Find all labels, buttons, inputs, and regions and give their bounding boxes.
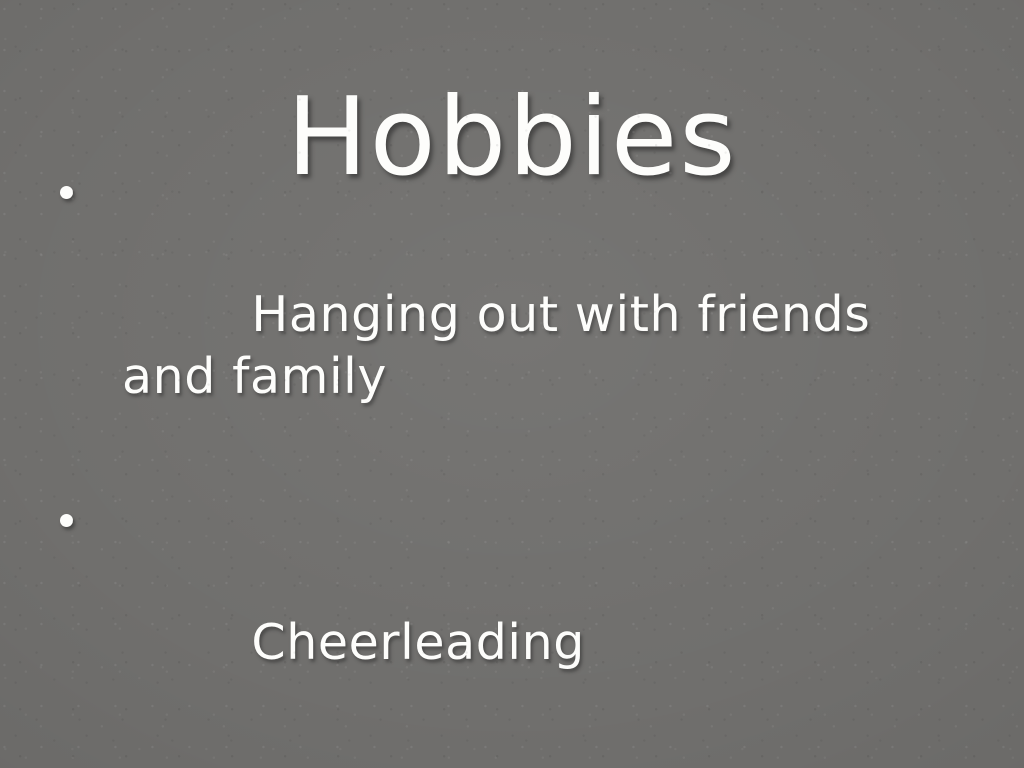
list-item-label: Hanging out with friends and family (122, 286, 887, 405)
hobbies-bullet-list: Hanging out with friends and family Chee… (0, 160, 1024, 768)
presentation-slide: Hobbies Hanging out with friends and fam… (0, 0, 1024, 768)
list-item: Cheerleading (0, 488, 1024, 736)
list-item-label: Cheerleading (251, 614, 585, 671)
list-item: Hanging out with friends and family (0, 160, 1024, 470)
bullet-dot-icon (60, 514, 73, 527)
list-item: Sleeping (0, 754, 1024, 768)
slide-content: Hobbies Hanging out with friends and fam… (0, 0, 1024, 768)
bullet-dot-icon (60, 186, 73, 199)
